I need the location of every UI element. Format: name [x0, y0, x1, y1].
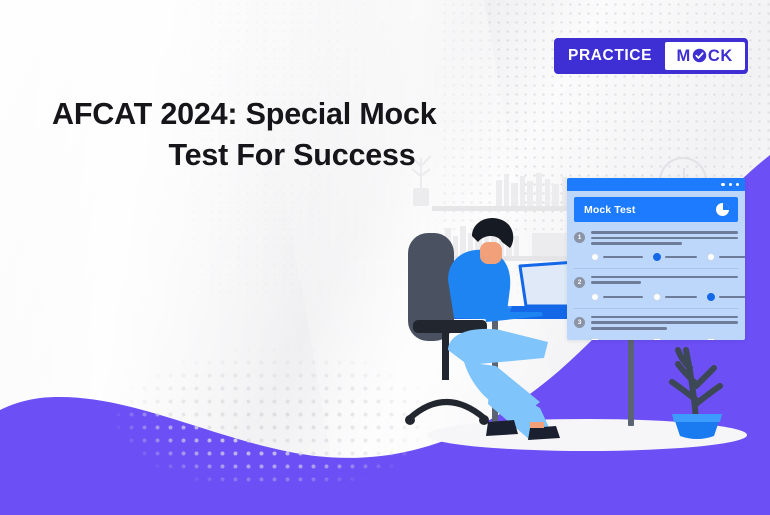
answer-options[interactable]: [591, 338, 738, 340]
question-block-1[interactable]: 1: [574, 231, 738, 261]
logo-text-m: M: [677, 48, 691, 65]
potted-plant-icon: [672, 350, 722, 439]
mock-test-window[interactable]: Mock Test 1: [567, 178, 745, 340]
option-c[interactable]: [707, 293, 745, 301]
checkbox-icon[interactable]: [653, 338, 661, 340]
mock-test-title: Mock Test: [584, 204, 635, 216]
radio-icon-selected[interactable]: [707, 293, 715, 301]
checkbox-icon[interactable]: [707, 338, 715, 340]
option-c[interactable]: [707, 338, 745, 340]
question-block-2[interactable]: 2: [574, 276, 738, 301]
question-divider: [574, 308, 738, 309]
checkbox-icon[interactable]: [591, 338, 599, 340]
window-dot-3: [736, 183, 739, 186]
question-number: 3: [574, 317, 585, 328]
window-title-bar: [567, 178, 745, 191]
pie-timer-icon: [716, 203, 729, 216]
mock-test-body: Mock Test 1: [567, 191, 745, 340]
banner-canvas: Mock Test 1: [0, 0, 770, 515]
option-b[interactable]: [653, 253, 697, 261]
radio-icon[interactable]: [707, 253, 715, 261]
option-a[interactable]: [591, 253, 643, 261]
answer-options[interactable]: [591, 293, 738, 301]
question-text-lines: [591, 276, 738, 288]
option-a[interactable]: [591, 338, 643, 340]
headline-line-1: AFCAT 2024: Special Mock: [52, 94, 532, 135]
option-b[interactable]: [653, 338, 697, 340]
answer-options[interactable]: [591, 253, 738, 261]
radio-icon[interactable]: [591, 293, 599, 301]
logo-text-practice: PRACTICE: [556, 40, 663, 72]
question-divider: [574, 268, 738, 269]
headline-line-2: Test For Success: [52, 135, 532, 176]
check-circle-icon: [692, 48, 707, 63]
question-number: 2: [574, 277, 585, 288]
question-block-3[interactable]: 3: [574, 316, 738, 340]
practicemock-logo[interactable]: PRACTICE M CK: [554, 38, 748, 74]
logo-badge-mock: M CK: [665, 42, 745, 71]
radio-icon-selected[interactable]: [653, 253, 661, 261]
question-text-lines: [591, 231, 738, 248]
option-b[interactable]: [653, 293, 697, 301]
window-dot-1: [721, 183, 724, 186]
radio-icon[interactable]: [591, 253, 599, 261]
window-dot-2: [729, 183, 732, 186]
option-c[interactable]: [707, 253, 745, 261]
radio-icon[interactable]: [653, 293, 661, 301]
mock-test-header: Mock Test: [574, 197, 738, 222]
question-text-lines: [591, 316, 738, 333]
logo-text-ck: CK: [708, 48, 733, 65]
page-title: AFCAT 2024: Special Mock Test For Succes…: [52, 94, 532, 175]
option-a[interactable]: [591, 293, 643, 301]
question-number: 1: [574, 232, 585, 243]
